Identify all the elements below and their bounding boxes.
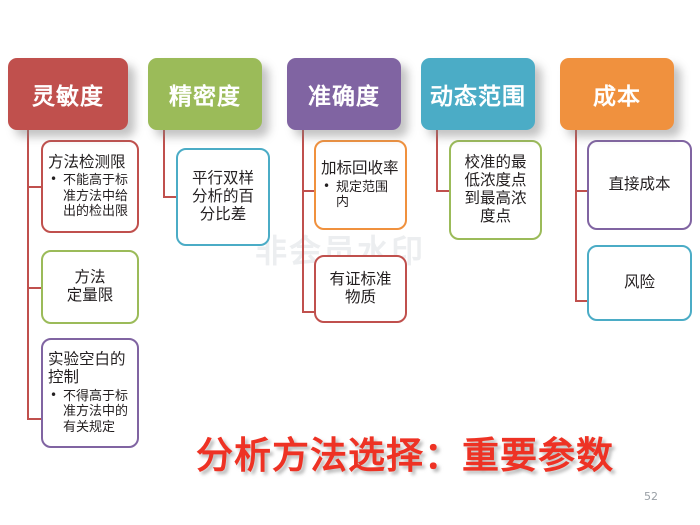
node-title-line1: 平行双样 <box>183 170 263 188</box>
node-bullet: 规定范围内 <box>321 180 400 211</box>
node-title-line3: 分比差 <box>183 206 263 224</box>
node-duplicate-analysis-percent-diff[interactable]: 平行双样 分析的百 分比差 <box>176 148 270 246</box>
node-bullet: 不得高于标准方法中的有关规定 <box>48 389 132 435</box>
node-title-line2: 定量限 <box>48 287 132 305</box>
node-title: 加标回收率 <box>321 160 400 178</box>
connector-vertical-accuracy <box>302 130 304 313</box>
header-chip-sensitivity[interactable]: 灵敏度 <box>8 58 128 130</box>
node-title: 方法检测限 <box>48 154 132 172</box>
header-chip-precision[interactable]: 精密度 <box>148 58 262 130</box>
connector-vertical-precision <box>163 130 165 198</box>
node-title: 直接成本 <box>594 176 685 194</box>
header-chip-cost[interactable]: 成本 <box>560 58 674 130</box>
node-title-line3: 到最高浓 <box>456 190 535 208</box>
header-label-dynamic-range: 动态范围 <box>430 77 526 111</box>
connector-vertical-dynamic-range <box>436 130 438 192</box>
header-chip-accuracy[interactable]: 准确度 <box>287 58 401 130</box>
node-title-line1: 有证标准 <box>321 271 400 289</box>
node-title-line2: 低浓度点 <box>456 172 535 190</box>
node-title-line1: 校准的最 <box>456 154 535 172</box>
header-label-accuracy: 准确度 <box>308 77 380 111</box>
node-spike-recovery[interactable]: 加标回收率 规定范围内 <box>314 140 407 230</box>
header-label-cost: 成本 <box>593 77 641 111</box>
node-title: 风险 <box>594 274 685 292</box>
node-blank-control[interactable]: 实验空白的控制 不得高于标准方法中的有关规定 <box>41 338 139 448</box>
header-label-sensitivity: 灵敏度 <box>32 77 104 111</box>
node-risk[interactable]: 风险 <box>587 245 692 321</box>
node-method-detection-limit[interactable]: 方法检测限 不能高于标准方法中给出的检出限 <box>41 140 139 233</box>
node-title-line2: 分析的百 <box>183 188 263 206</box>
page-number: 52 <box>644 490 658 503</box>
node-bullet: 不能高于标准方法中给出的检出限 <box>48 173 132 219</box>
header-chip-dynamic-range[interactable]: 动态范围 <box>421 58 535 130</box>
connector-vertical-sensitivity <box>27 130 29 420</box>
slide-title: 分析方法选择：重要参数 <box>196 425 614 479</box>
node-direct-cost[interactable]: 直接成本 <box>587 140 692 230</box>
slide-canvas: 非会员水印 灵敏度 方法检测限 不能高于标准方法中给出的检出限 方法 定量限 实… <box>0 0 700 525</box>
node-title-line2: 物质 <box>321 289 400 307</box>
node-calibration-range[interactable]: 校准的最 低浓度点 到最高浓 度点 <box>449 140 542 240</box>
node-method-quantitation-limit[interactable]: 方法 定量限 <box>41 250 139 324</box>
node-title: 实验空白的控制 <box>48 351 132 387</box>
connector-vertical-cost <box>575 130 577 302</box>
node-title-line4: 度点 <box>456 208 535 226</box>
node-certified-reference-material[interactable]: 有证标准 物质 <box>314 255 407 323</box>
node-title-line1: 方法 <box>48 269 132 287</box>
header-label-precision: 精密度 <box>169 77 241 111</box>
connector-branch-dynamic-range-1 <box>436 190 450 192</box>
